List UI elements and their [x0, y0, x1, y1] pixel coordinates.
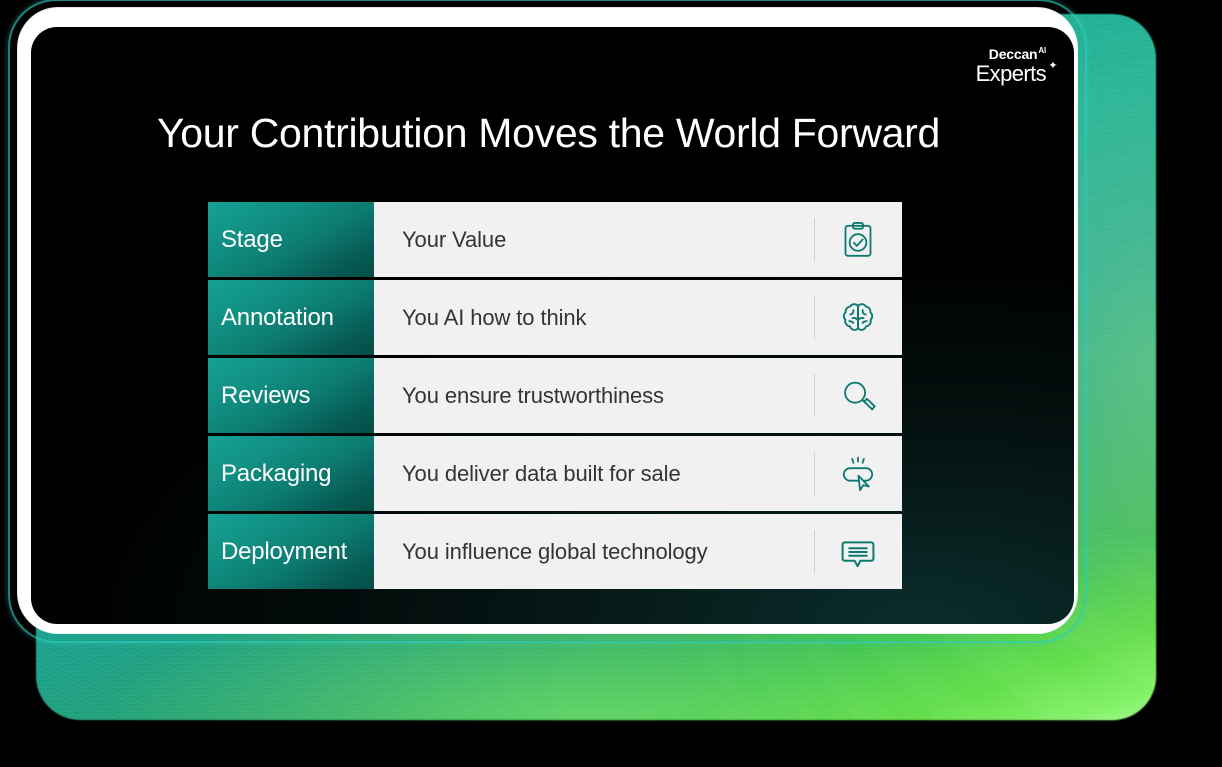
- row-icon-cell: [814, 436, 902, 511]
- stage-label-cell: Annotation: [208, 280, 374, 355]
- brain-icon: [838, 298, 878, 338]
- page-title: Your Contribution Moves the World Forwar…: [157, 110, 940, 157]
- value-label-cell: You ensure trustworthiness: [374, 358, 814, 433]
- brand-logo-deccan: Deccan: [989, 46, 1038, 62]
- stage-label-cell: Reviews: [208, 358, 374, 433]
- row-icon-cell: [814, 202, 902, 277]
- row-icon-cell: [814, 280, 902, 355]
- stages-table: Stage Your Value Annotation You AI how t…: [208, 202, 902, 589]
- stage-label-cell: Stage: [208, 202, 374, 277]
- chat-bubble-icon: [838, 532, 878, 572]
- table-row: Stage Your Value: [208, 202, 902, 277]
- value-label-cell: Your Value: [374, 202, 814, 277]
- brand-logo-experts: Experts: [976, 61, 1046, 86]
- table-row: Packaging You deliver data built for sal…: [208, 436, 902, 511]
- stage-label-cell: Deployment: [208, 514, 374, 589]
- table-row: Deployment You influence global technolo…: [208, 514, 902, 589]
- slide-card: DeccanAI Experts✦ Your Contribution Move…: [31, 27, 1074, 624]
- table-row: Reviews You ensure trustworthiness: [208, 358, 902, 433]
- value-label-cell: You deliver data built for sale: [374, 436, 814, 511]
- row-icon-cell: [814, 358, 902, 433]
- value-label-cell: You influence global technology: [374, 514, 814, 589]
- brand-logo-top: DeccanAI: [976, 47, 1046, 61]
- stage-label-cell: Packaging: [208, 436, 374, 511]
- sparkle-icon: ✦: [1048, 61, 1057, 72]
- brand-logo: DeccanAI Experts✦: [976, 47, 1046, 85]
- clipboard-check-icon: [838, 220, 878, 260]
- table-row: Annotation You AI how to think: [208, 280, 902, 355]
- brand-logo-ai-superscript: AI: [1038, 46, 1046, 55]
- click-button-cursor-icon: [838, 454, 878, 494]
- value-label-cell: You AI how to think: [374, 280, 814, 355]
- brand-logo-bottom: Experts✦: [976, 63, 1046, 85]
- row-icon-cell: [814, 514, 902, 589]
- magnifier-icon: [838, 376, 878, 416]
